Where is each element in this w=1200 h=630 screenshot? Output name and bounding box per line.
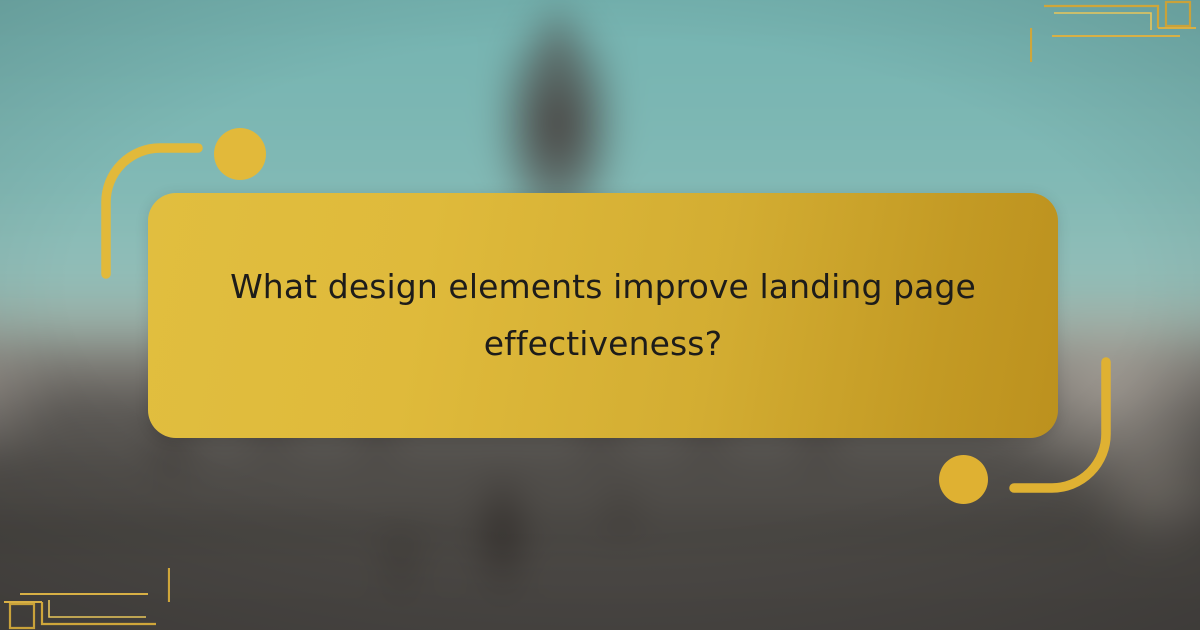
question-text: What design elements improve landing pag… xyxy=(218,259,988,373)
ornament-bottom-left-icon xyxy=(0,552,170,630)
quote-card: What design elements improve landing pag… xyxy=(148,193,1058,438)
dot-top-left-icon xyxy=(214,128,266,180)
ornament-top-right-icon xyxy=(1030,0,1200,78)
quote-card-canvas: What design elements improve landing pag… xyxy=(0,0,1200,630)
dot-bottom-right-icon xyxy=(939,455,988,504)
